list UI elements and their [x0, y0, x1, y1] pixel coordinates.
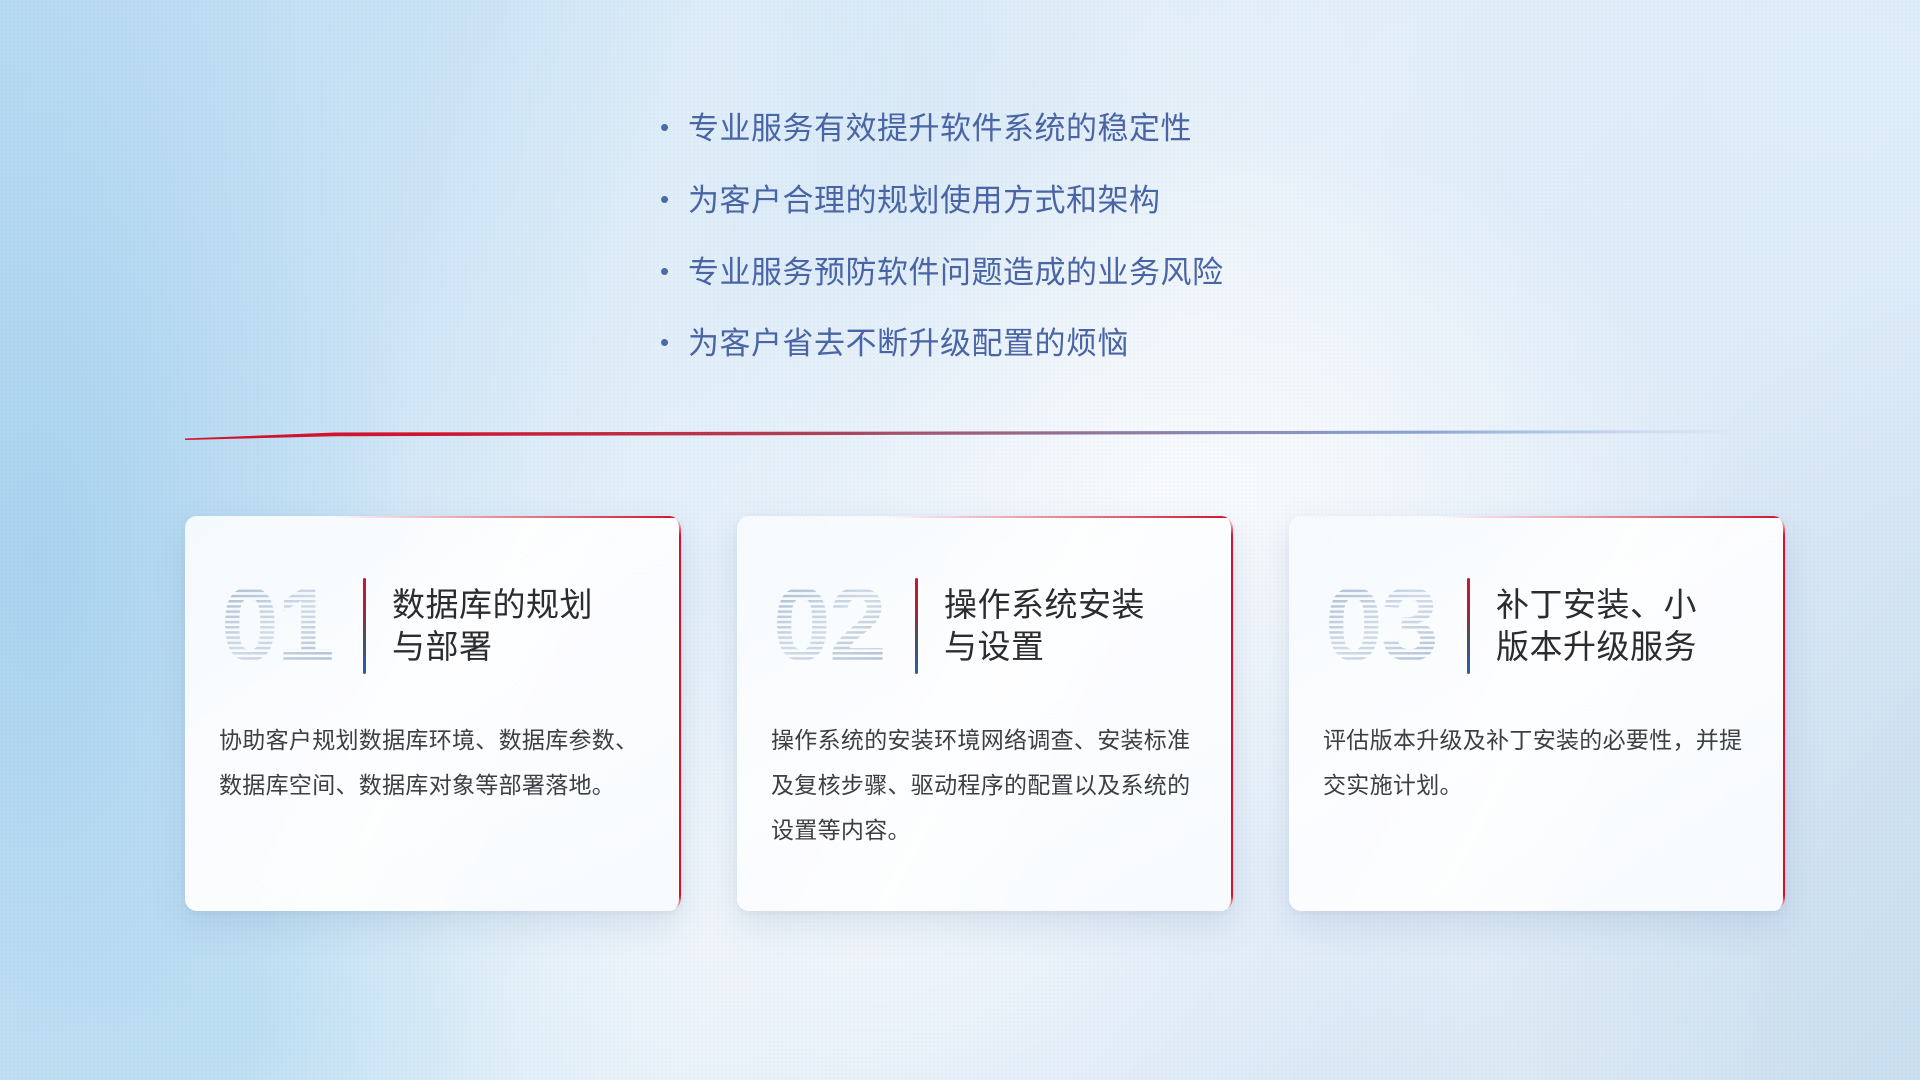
- card-body-text: 操作系统的安装环境网络调查、安装标准及复核步骤、驱动程序的配置以及系统的设置等内…: [737, 692, 1233, 853]
- card-number-striped: 03: [1321, 574, 1457, 678]
- bullet-list: • 专业服务有效提升软件系统的稳定性 • 为客户合理的规划使用方式和架构 • 专…: [660, 110, 1420, 397]
- list-item: • 为客户省去不断升级配置的烦恼: [660, 325, 1420, 363]
- bullet-text: 为客户省去不断升级配置的烦恼: [688, 325, 1129, 363]
- bullet-text: 专业服务预防软件问题造成的业务风险: [688, 254, 1224, 292]
- card-title: 数据库的规划 与部署: [392, 584, 593, 668]
- card-title-rule: [363, 578, 366, 674]
- card-title-line-2: 版本升级服务: [1496, 626, 1697, 668]
- svg-text:02: 02: [773, 574, 885, 678]
- list-item: • 专业服务预防软件问题造成的业务风险: [660, 254, 1420, 292]
- bullet-dot-icon: •: [660, 114, 688, 140]
- bullet-text: 专业服务有效提升软件系统的稳定性: [688, 110, 1192, 148]
- card-01[interactable]: 01 数据库的规划 与部署 协助客户规划数据库环境、数据库参数、数据库空间、数据…: [185, 516, 681, 911]
- card-number-striped: 02: [769, 574, 905, 678]
- card-header: 03 补丁安装、小 版本升级服务: [1289, 516, 1785, 692]
- card-row: 01 数据库的规划 与部署 协助客户规划数据库环境、数据库参数、数据库空间、数据…: [185, 516, 1787, 911]
- card-title: 补丁安装、小 版本升级服务: [1496, 584, 1697, 668]
- card-02[interactable]: 02 操作系统安装 与设置 操作系统的安装环境网络调查、安装标准及复核步骤、驱动…: [737, 516, 1233, 911]
- card-header: 02 操作系统安装 与设置: [737, 516, 1233, 692]
- card-title-rule: [1467, 578, 1470, 674]
- card-title-line-1: 补丁安装、小: [1496, 584, 1697, 626]
- card-title-rule: [915, 578, 918, 674]
- card-title-line-1: 数据库的规划: [392, 584, 593, 626]
- card-03[interactable]: 03 补丁安装、小 版本升级服务 评估版本升级及补丁安装的必要性，并提交实施计划…: [1289, 516, 1785, 911]
- card-title-line-1: 操作系统安装: [944, 584, 1145, 626]
- slide-canvas: • 专业服务有效提升软件系统的稳定性 • 为客户合理的规划使用方式和架构 • 专…: [0, 0, 1920, 1080]
- bullet-dot-icon: •: [660, 258, 688, 284]
- bullet-dot-icon: •: [660, 186, 688, 212]
- list-item: • 专业服务有效提升软件系统的稳定性: [660, 110, 1420, 148]
- svg-text:01: 01: [221, 574, 333, 678]
- svg-text:03: 03: [1325, 574, 1437, 678]
- card-body-text: 评估版本升级及补丁安装的必要性，并提交实施计划。: [1289, 692, 1785, 808]
- card-title: 操作系统安装 与设置: [944, 584, 1145, 668]
- bullet-dot-icon: •: [660, 329, 688, 355]
- section-divider: [185, 428, 1735, 442]
- card-header: 01 数据库的规划 与部署: [185, 516, 681, 692]
- list-item: • 为客户合理的规划使用方式和架构: [660, 182, 1420, 220]
- card-number-striped: 01: [217, 574, 353, 678]
- card-title-line-2: 与部署: [392, 626, 593, 668]
- card-body-text: 协助客户规划数据库环境、数据库参数、数据库空间、数据库对象等部署落地。: [185, 692, 681, 808]
- bullet-text: 为客户合理的规划使用方式和架构: [688, 182, 1161, 220]
- card-title-line-2: 与设置: [944, 626, 1145, 668]
